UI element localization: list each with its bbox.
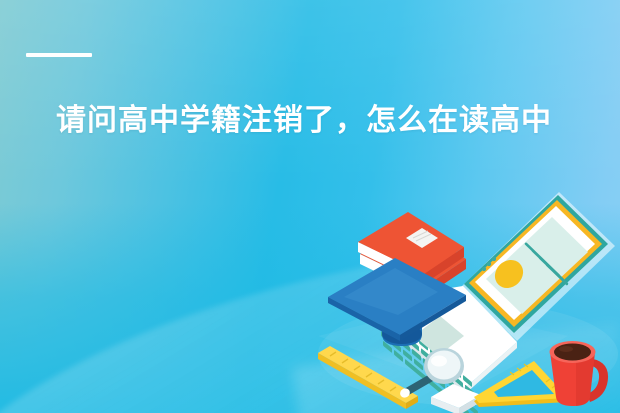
magnifier-lens-shine — [431, 356, 447, 367]
page-title: 请问高中学籍注销了，怎么在读高中 — [56, 100, 586, 142]
mug-coffee — [554, 344, 591, 361]
promo-banner: 请问高中学籍注销了，怎么在读高中 — [0, 0, 620, 413]
mug-coffee-shine — [559, 346, 573, 352]
isometric-desk-illustration — [318, 186, 620, 413]
decorative-rule — [26, 53, 92, 57]
